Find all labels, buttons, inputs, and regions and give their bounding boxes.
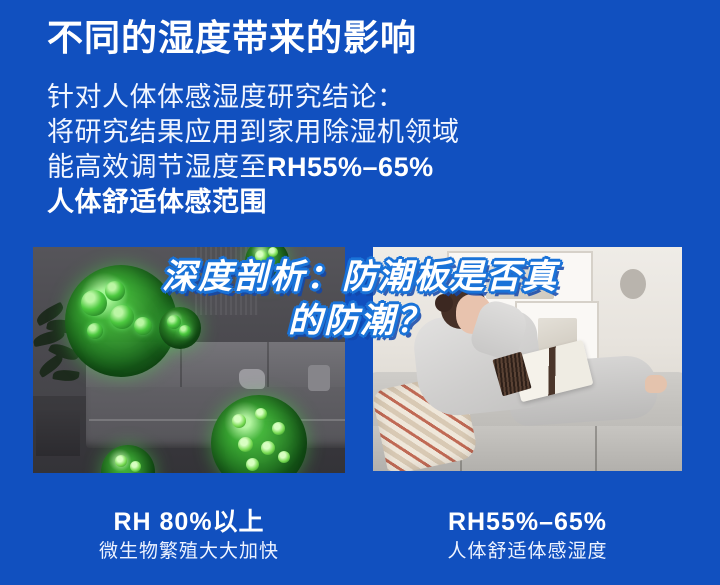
right-scene-seat-seam <box>595 426 597 471</box>
left-scene-cushion-divider <box>267 342 269 387</box>
caption-left-sub: 微生物繁殖大大加快 <box>33 538 345 566</box>
body-line-3-value: RH55%–65% <box>267 152 434 182</box>
caption-left: RH 80%以上 微生物繁殖大大加快 <box>33 506 345 566</box>
body-line-3-prefix: 能高效调节湿度至 <box>47 152 267 182</box>
caption-left-main: RH 80%以上 <box>33 506 345 538</box>
woman-foot <box>645 375 667 393</box>
caption-right: RH55%–65% 人体舒适体感湿度 <box>373 506 682 566</box>
caption-right-main: RH55%–65% <box>373 506 682 538</box>
left-scene-wall-knob <box>289 261 305 283</box>
intro-text-block: 针对人体体感湿度研究结论： 将研究结果应用到家用除湿机领域 能高效调节湿度至RH… <box>47 80 667 220</box>
left-scene-arm-pad <box>308 365 330 391</box>
body-line-1: 针对人体体感湿度研究结论： <box>47 80 667 115</box>
body-line-4: 人体舒适体感范围 <box>47 185 667 220</box>
body-line-3: 能高效调节湿度至RH55%–65% <box>47 150 667 185</box>
caption-right-sub: 人体舒适体感湿度 <box>373 538 682 566</box>
woman-hair-bun <box>435 294 453 312</box>
body-line-2: 将研究结果应用到家用除湿机领域 <box>47 115 667 150</box>
left-scene-pillow <box>239 369 265 389</box>
poster-canvas: 不同的湿度带来的影响 针对人体体感湿度研究结论： 将研究结果应用到家用除湿机领域… <box>0 0 720 585</box>
page-title: 不同的湿度带来的影响 <box>47 16 417 60</box>
photo-panel-right <box>373 247 682 471</box>
left-scene-plant-pot <box>36 410 80 456</box>
microbe-sphere-medium <box>159 307 201 349</box>
photo-panel-left <box>33 247 345 473</box>
